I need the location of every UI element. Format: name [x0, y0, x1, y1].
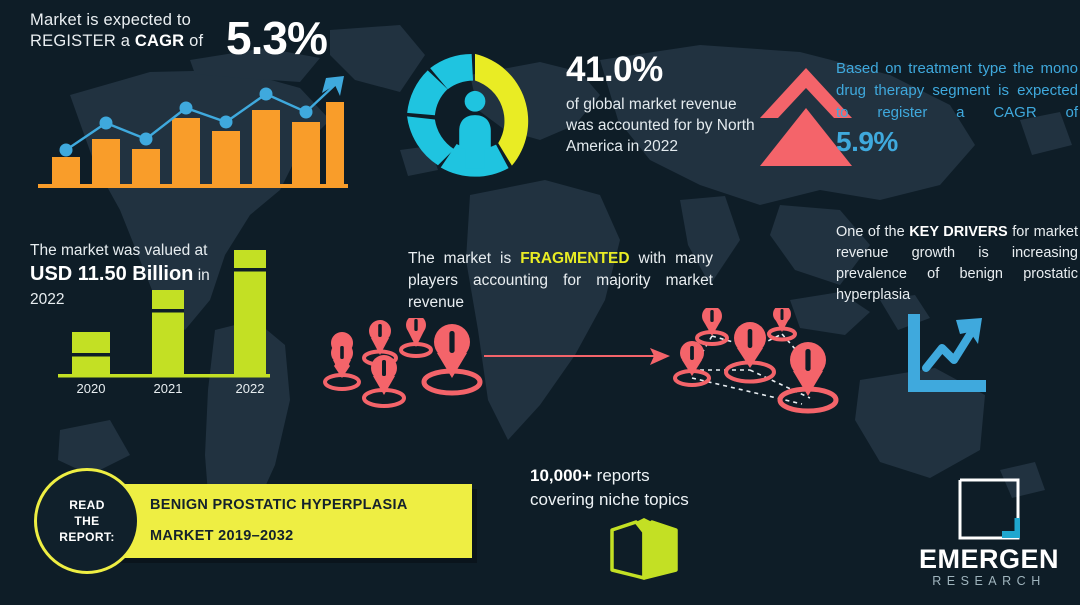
- reports-line1: 10,000+ reports: [530, 464, 760, 488]
- read-line3: REPORT:: [59, 530, 114, 544]
- right-arrow-icon: [482, 342, 672, 376]
- cagr-keyword: CAGR: [135, 32, 184, 50]
- read-the-report-button[interactable]: READ THE REPORT:: [34, 468, 140, 574]
- logo-name: EMERGEN: [908, 544, 1070, 575]
- valuation-bar-2021: [152, 290, 184, 374]
- square-outline-icon: [958, 478, 1020, 540]
- valuation-bar-chart: 2020 2021 2022: [58, 240, 298, 400]
- reports-line1-tail: reports: [592, 466, 650, 485]
- read-line2: THE: [74, 514, 99, 528]
- logo-subtitle: RESEARCH: [908, 574, 1070, 588]
- cagr-line2-suffix: of: [184, 32, 203, 50]
- valuation-label-2020: 2020: [77, 381, 106, 396]
- key-drivers-callout: One of the KEY DRIVERS for market revenu…: [836, 222, 1078, 306]
- fragmented-prefix: The market is: [408, 250, 520, 267]
- read-the-report-label: READ THE REPORT:: [59, 497, 114, 545]
- map-pin-icon: [325, 332, 359, 389]
- report-title-line1: BENIGN PROSTATIC HYPERPLASIA: [150, 497, 408, 513]
- cagr-line2-prefix: REGISTER a: [30, 32, 135, 50]
- treatment-type-description: Based on treatment type the mono drug th…: [836, 58, 1078, 124]
- fragmented-description: The market is FRAGMENTED with many playe…: [408, 248, 713, 314]
- reports-count-value: 10,000+: [530, 466, 592, 485]
- north-america-value: 41.0%: [566, 50, 766, 90]
- map-pin-icon: [726, 322, 774, 382]
- reports-line2: covering niche topics: [530, 488, 760, 512]
- valuation-chart-axis: [58, 374, 270, 378]
- growth-chart-icon: [898, 310, 990, 398]
- infographic-canvas: Market is expected to REGISTER a CAGR of…: [0, 0, 1080, 605]
- treatment-type-callout: Based on treatment type the mono drug th…: [836, 58, 1078, 158]
- north-america-description: of global market revenue was accounted f…: [566, 94, 766, 157]
- north-america-callout: 41.0% of global market revenue was accou…: [566, 50, 766, 157]
- read-line1: READ: [69, 498, 105, 512]
- valuation-label-2021: 2021: [154, 381, 183, 396]
- key-drivers-keyword: KEY DRIVERS: [909, 224, 1008, 240]
- report-title-line2: MARKET 2019–2032: [150, 528, 293, 544]
- fragmented-keyword: FRAGMENTED: [520, 250, 629, 267]
- fragmented-market-callout: The market is FRAGMENTED with many playe…: [408, 248, 713, 314]
- connected-map-pins-group: [662, 308, 857, 423]
- map-pin-icon: [401, 318, 431, 356]
- donut-segment-3: [407, 116, 454, 165]
- valuation-label-2022: 2022: [236, 381, 265, 396]
- map-pin-icon: [424, 324, 480, 393]
- key-drivers-description: One of the KEY DRIVERS for market revenu…: [836, 222, 1078, 306]
- cagr-callout: Market is expected to REGISTER a CAGR of…: [30, 10, 360, 52]
- key-drivers-prefix: One of the: [836, 224, 909, 240]
- growth-chart-axis: [38, 184, 348, 188]
- emergen-research-logo: EMERGEN RESEARCH: [908, 478, 1070, 596]
- reports-count-callout: 10,000+ reports covering niche topics: [530, 464, 760, 512]
- cagr-value: 5.3%: [226, 12, 327, 64]
- growth-bar-line-chart: [38, 74, 348, 192]
- regional-share-donut-chart: [396, 44, 554, 204]
- cagr-line1: Market is expected to: [30, 11, 191, 29]
- treatment-type-value: 5.9%: [836, 126, 1078, 158]
- open-book-icon: [606, 518, 682, 582]
